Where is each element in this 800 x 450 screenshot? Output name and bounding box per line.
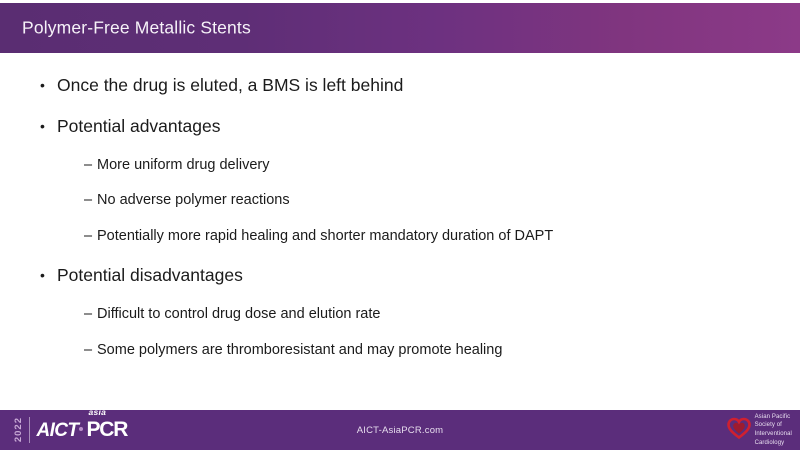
dash-marker-icon: –: [84, 228, 97, 245]
list-item-label: Potential disadvantages: [57, 265, 243, 286]
page-title: Polymer-Free Metallic Stents: [22, 18, 251, 39]
logo-pcr-label: PCR: [86, 418, 127, 441]
sub-list-item: – Potentially more rapid healing and sho…: [84, 228, 760, 245]
logo-year-label: 2022: [14, 417, 24, 442]
sub-list-item-label: No adverse polymer reactions: [97, 192, 290, 209]
apsic-line-2: Society of: [755, 422, 782, 428]
sub-list-item-label: More uniform drug delivery: [97, 157, 269, 174]
logo-asia-label: asia: [88, 408, 106, 417]
dash-marker-icon: –: [84, 192, 97, 209]
apsic-name-block: Asian Pacific Society of Interventional …: [755, 413, 792, 447]
list-item-label: Potential advantages: [57, 116, 220, 137]
list-item: • Potential advantages: [40, 116, 760, 137]
bullet-marker-icon: •: [40, 265, 57, 285]
sub-list-item: – No adverse polymer reactions: [84, 192, 760, 209]
slide-header-bar: Polymer-Free Metallic Stents: [0, 3, 800, 53]
sub-list-item: – More uniform drug delivery: [84, 157, 760, 174]
heart-icon: [727, 417, 751, 444]
apsic-line-1: Asian Pacific: [755, 414, 791, 420]
slide-body: • Once the drug is eluted, a BMS is left…: [0, 53, 800, 410]
slide: Polymer-Free Metallic Stents • Once the …: [0, 0, 800, 450]
dash-marker-icon: –: [84, 157, 97, 174]
slide-footer-bar: 2022 AICT asia PCR AICT-AsiaPCR.com Asia…: [0, 410, 800, 450]
dash-marker-icon: –: [84, 306, 97, 323]
footer-url-label: AICT-AsiaPCR.com: [357, 425, 444, 436]
sub-list-item: – Some polymers are thromboresistant and…: [84, 342, 760, 359]
bullet-marker-icon: •: [40, 75, 57, 95]
sub-list-item: – Difficult to control drug dose and elu…: [84, 306, 760, 323]
sub-list-item-label: Potentially more rapid healing and short…: [97, 228, 553, 245]
aict-asiapcr-logo: 2022 AICT asia PCR: [14, 410, 127, 450]
logo-aict-label: AICT: [37, 421, 79, 440]
logo-asiapcr-group: asia PCR: [86, 419, 127, 441]
list-item: • Potential disadvantages: [40, 265, 760, 286]
list-item: • Once the drug is eluted, a BMS is left…: [40, 75, 760, 96]
apsic-logo: Asian Pacific Society of Interventional …: [727, 410, 792, 450]
apsic-line-4: Cardiology: [755, 440, 785, 446]
sub-list-item-label: Some polymers are thromboresistant and m…: [97, 342, 502, 359]
sub-list-item-label: Difficult to control drug dose and eluti…: [97, 306, 380, 323]
list-item-label: Once the drug is eluted, a BMS is left b…: [57, 75, 403, 96]
logo-divider: [29, 417, 30, 443]
bullet-list: • Once the drug is eluted, a BMS is left…: [40, 75, 760, 377]
apsic-line-3: Interventional: [755, 431, 792, 437]
logo-dot-icon: [79, 427, 83, 431]
dash-marker-icon: –: [84, 342, 97, 359]
bullet-marker-icon: •: [40, 116, 57, 136]
